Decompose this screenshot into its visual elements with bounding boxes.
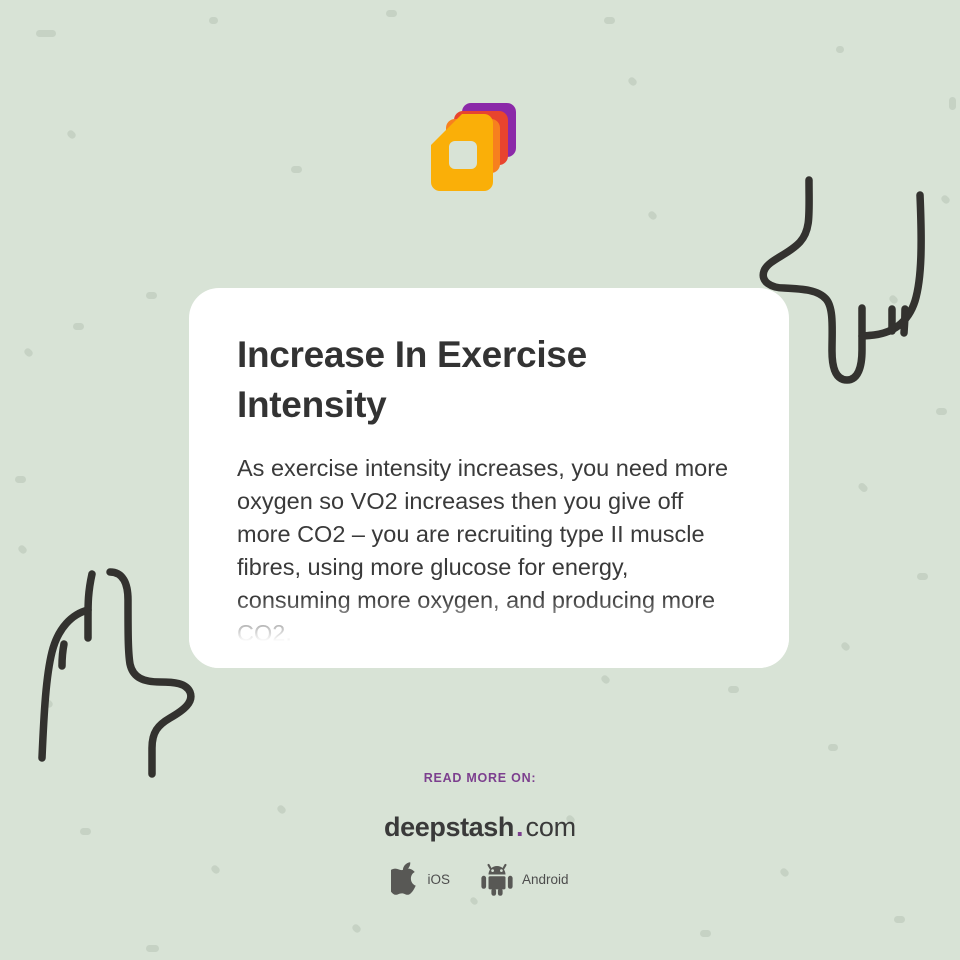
card-body-text: As exercise intensity increases, you nee… — [237, 452, 741, 650]
confetti-dash — [600, 674, 611, 685]
confetti-dash — [917, 573, 928, 580]
brand-wordmark[interactable]: deepstash.com — [0, 812, 960, 843]
confetti-dash — [23, 347, 34, 358]
confetti-dash — [146, 945, 159, 952]
card-truncated-text: This is the point at which the body shif… — [237, 656, 741, 668]
brand-name: deepstash — [384, 812, 514, 842]
stash-card-content: Increase In Exercise Intensity As exerci… — [189, 288, 789, 668]
poster-canvas: Increase In Exercise Intensity As exerci… — [0, 0, 960, 960]
apple-icon — [391, 862, 419, 896]
ios-store-label: iOS — [427, 872, 450, 887]
confetti-dash — [940, 194, 951, 205]
confetti-dash — [291, 166, 302, 173]
confetti-dash — [828, 744, 838, 751]
deepstash-logo — [430, 103, 516, 197]
logo-inner-cutout — [449, 141, 477, 169]
confetti-dash — [936, 408, 947, 415]
confetti-dash — [888, 294, 899, 305]
confetti-dash — [386, 10, 397, 17]
confetti-dash — [73, 323, 84, 330]
confetti-dash — [17, 544, 28, 555]
confetti-dash — [647, 210, 658, 221]
confetti-dash — [894, 916, 905, 923]
confetti-dash — [15, 476, 26, 483]
page-title: Increase In Exercise Intensity — [237, 330, 741, 430]
confetti-dash — [700, 930, 711, 937]
brand-tld: com — [526, 812, 576, 842]
android-icon — [480, 862, 514, 896]
confetti-dash — [209, 17, 218, 24]
confetti-dash — [604, 17, 615, 24]
ios-store-link[interactable]: iOS — [391, 862, 450, 896]
confetti-dash — [469, 896, 479, 906]
confetti-dash — [146, 292, 157, 299]
confetti-dash — [36, 30, 56, 37]
brand-dot: . — [514, 812, 526, 842]
store-links: iOS Android — [0, 862, 960, 896]
confetti-dash — [857, 481, 869, 493]
confetti-dash — [836, 46, 844, 53]
confetti-dash — [728, 686, 739, 693]
confetti-dash — [66, 129, 77, 140]
android-store-link[interactable]: Android — [480, 862, 569, 896]
android-store-label: Android — [522, 872, 569, 887]
confetti-dash — [627, 76, 638, 87]
stash-card[interactable]: Increase In Exercise Intensity As exerci… — [189, 288, 789, 668]
pointing-hand-outline-left-icon — [18, 552, 218, 784]
confetti-dash — [949, 97, 956, 110]
read-more-label: READ MORE ON: — [0, 771, 960, 785]
confetti-dash — [43, 698, 54, 709]
confetti-dash — [840, 641, 851, 652]
confetti-dash — [351, 923, 362, 934]
